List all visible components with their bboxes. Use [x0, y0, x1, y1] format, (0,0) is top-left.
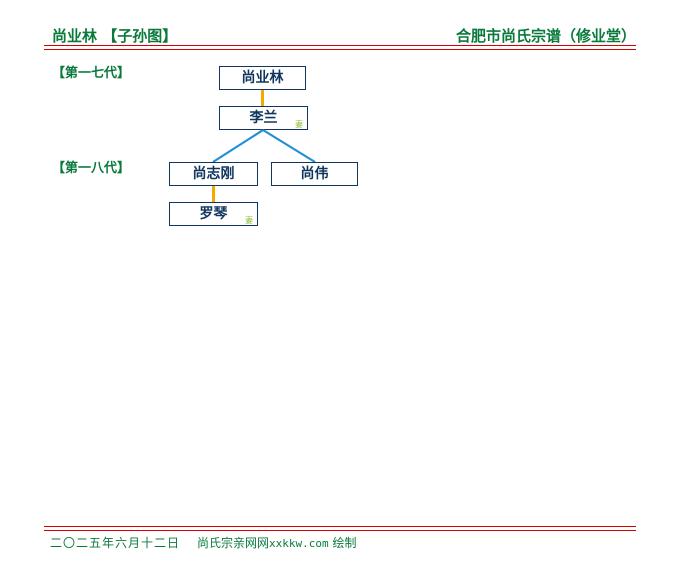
header-divider	[44, 45, 636, 50]
footer-divider-line-bottom	[44, 530, 636, 531]
person-name: 尚志刚	[170, 163, 257, 185]
person-name: 李兰	[220, 107, 307, 129]
person-box-li-lan[interactable]: 李兰 妻	[219, 106, 308, 130]
page-footer: 二〇二五年六月十二日 尚氏宗亲网网xxkkw.com 绘制	[44, 534, 636, 554]
descent-line-to-shang-wei	[263, 130, 315, 162]
footer-credit-suffix: 绘制	[329, 536, 357, 550]
generation-label-18: 【第一八代】	[52, 161, 130, 177]
spouse-marker: 妻	[245, 216, 253, 225]
footer-credit-url: xxkkw.com	[269, 537, 329, 550]
descent-connector-lines	[180, 128, 365, 164]
person-box-shang-zhigang[interactable]: 尚志刚	[169, 162, 258, 186]
header-divider-line-bottom	[44, 49, 636, 50]
genealogy-book-title: 合肥市尚氏宗谱（修业堂）	[456, 26, 636, 46]
header-divider-line-top	[44, 45, 636, 46]
person-name: 尚伟	[272, 163, 357, 185]
person-name: 尚业林	[220, 67, 305, 89]
footer-date: 二〇二五年六月十二日	[50, 534, 180, 551]
chart-title: 尚业林 【子孙图】	[52, 26, 177, 46]
footer-divider	[44, 526, 636, 531]
footer-credit-site-name: 尚氏宗亲网网	[197, 536, 269, 550]
generation-label-17: 【第一七代】	[52, 66, 130, 82]
spouse-connector-shang-yelin-li-lan	[261, 90, 264, 106]
descent-line-to-shang-zhigang	[213, 130, 263, 162]
person-box-luo-qin[interactable]: 罗琴 妻	[169, 202, 258, 226]
genealogy-chart-page: 尚业林 【子孙图】 合肥市尚氏宗谱（修业堂） 【第一七代】 【第一八代】 尚业林…	[0, 0, 680, 580]
person-box-shang-yelin[interactable]: 尚业林	[219, 66, 306, 90]
footer-divider-line-top	[44, 526, 636, 527]
person-box-shang-wei[interactable]: 尚伟	[271, 162, 358, 186]
person-name: 罗琴	[170, 203, 257, 225]
spouse-connector-shang-zhigang-luo-qin	[212, 186, 215, 202]
descent-connector-svg	[180, 128, 365, 164]
footer-credit: 尚氏宗亲网网xxkkw.com 绘制	[197, 534, 356, 551]
